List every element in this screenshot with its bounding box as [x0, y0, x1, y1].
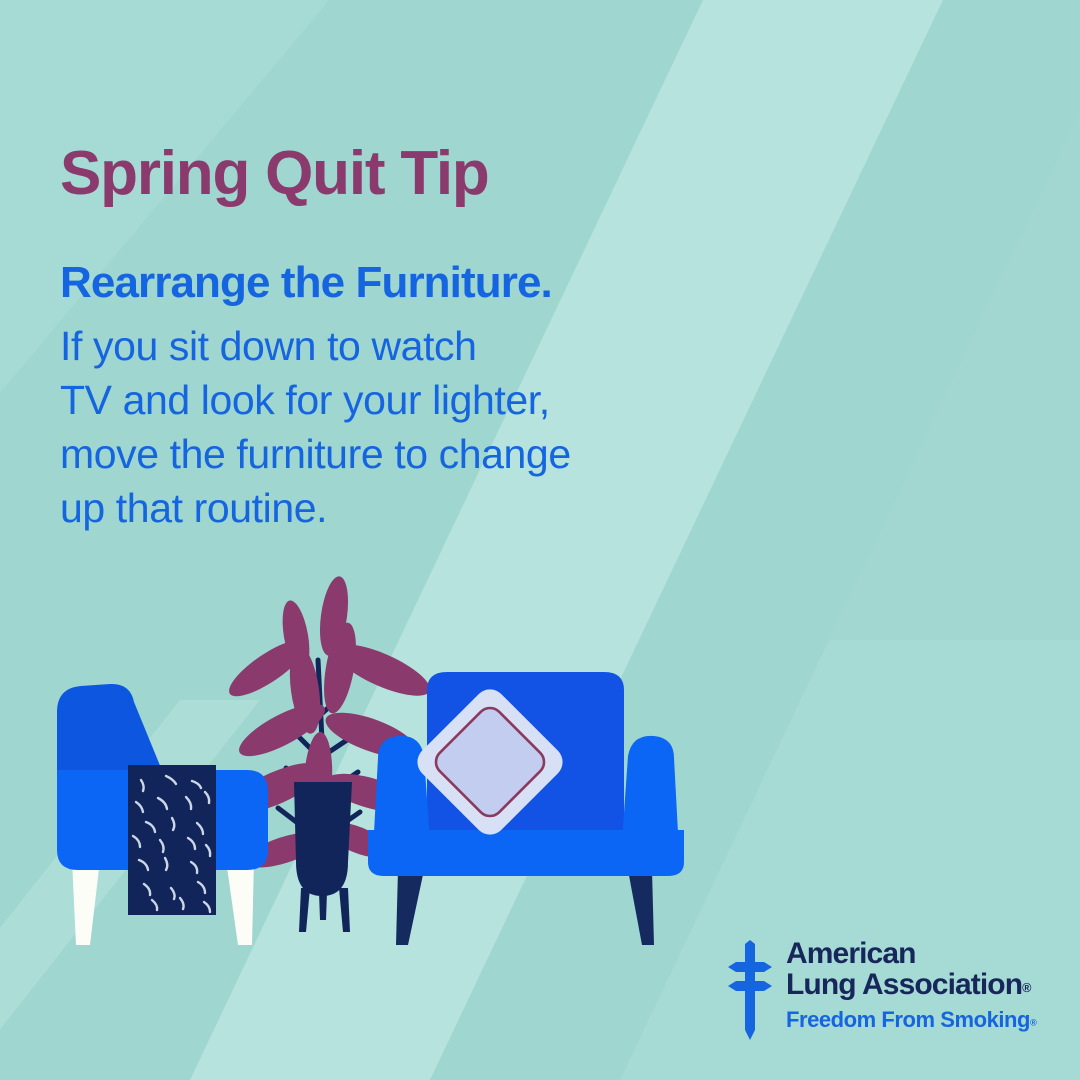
- logo-line-1: American: [786, 938, 1036, 969]
- illustration-svg: [0, 540, 1080, 970]
- body-line-3: move the furniture to change: [60, 427, 700, 481]
- text-block: Spring Quit Tip Rearrange the Furniture.…: [60, 142, 700, 536]
- armchair-right-seat: [368, 830, 684, 876]
- armchair-right-legs: [396, 870, 654, 945]
- page-title: Spring Quit Tip: [60, 142, 700, 206]
- logo-line-2-text: Lung Association: [786, 968, 1022, 1001]
- subheading: Rearrange the Furniture.: [60, 260, 700, 307]
- body-line-2: TV and look for your lighter,: [60, 373, 700, 427]
- logo-registered-mark-1: ®: [1022, 981, 1031, 995]
- body-line-1: If you sit down to watch: [60, 319, 700, 373]
- living-room-illustration: [0, 540, 1080, 970]
- body-line-4: up that routine.: [60, 481, 700, 535]
- draped-blanket: [128, 765, 216, 915]
- armchair-left: [57, 684, 268, 945]
- logo-registered-mark-2: ®: [1030, 1018, 1037, 1028]
- logo-tagline: Freedom From Smoking®: [786, 1007, 1036, 1033]
- body-copy: If you sit down to watch TV and look for…: [60, 319, 700, 535]
- plant-pot: [294, 782, 352, 896]
- lorraine-cross-icon: [726, 940, 774, 1040]
- logo-line-2: Lung Association®: [786, 969, 1036, 1000]
- plant-pot-legs: [299, 888, 350, 932]
- logo-wordmark: American Lung Association® Freedom From …: [786, 938, 1036, 1033]
- armchair-right: [368, 672, 684, 945]
- logo-tagline-text: Freedom From Smoking: [786, 1007, 1030, 1032]
- poster-canvas: Spring Quit Tip Rearrange the Furniture.…: [0, 0, 1080, 1080]
- logo[interactable]: American Lung Association® Freedom From …: [726, 938, 1036, 1043]
